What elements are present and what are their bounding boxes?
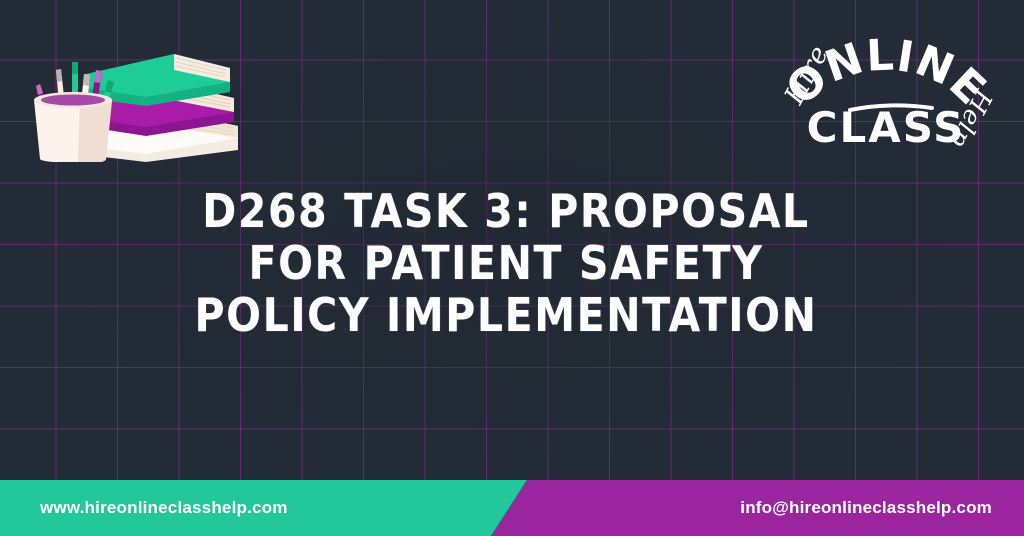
stacked-books-illustration — [20, 28, 252, 162]
logo-class-text: CLASS — [807, 103, 966, 146]
footer-bar: www.hireonlineclasshelp.com info@hireonl… — [0, 480, 1024, 536]
banner-graphic: Hire ONLINE CLASS Help D268 Task 3: Prop… — [0, 0, 1024, 536]
title-line-3: Policy Implementation — [0, 286, 1012, 344]
brand-logo: Hire ONLINE CLASS Help — [762, 14, 1010, 146]
contact-email[interactable]: info@hireonlineclasshelp.com — [740, 498, 992, 518]
website-url[interactable]: www.hireonlineclasshelp.com — [40, 498, 288, 518]
page-title: D268 Task 3: Proposal for Patient Safety… — [0, 182, 1024, 338]
title-line-2: for Patient Safety — [0, 234, 1012, 292]
title-line-1: D268 Task 3: Proposal — [0, 182, 1012, 240]
